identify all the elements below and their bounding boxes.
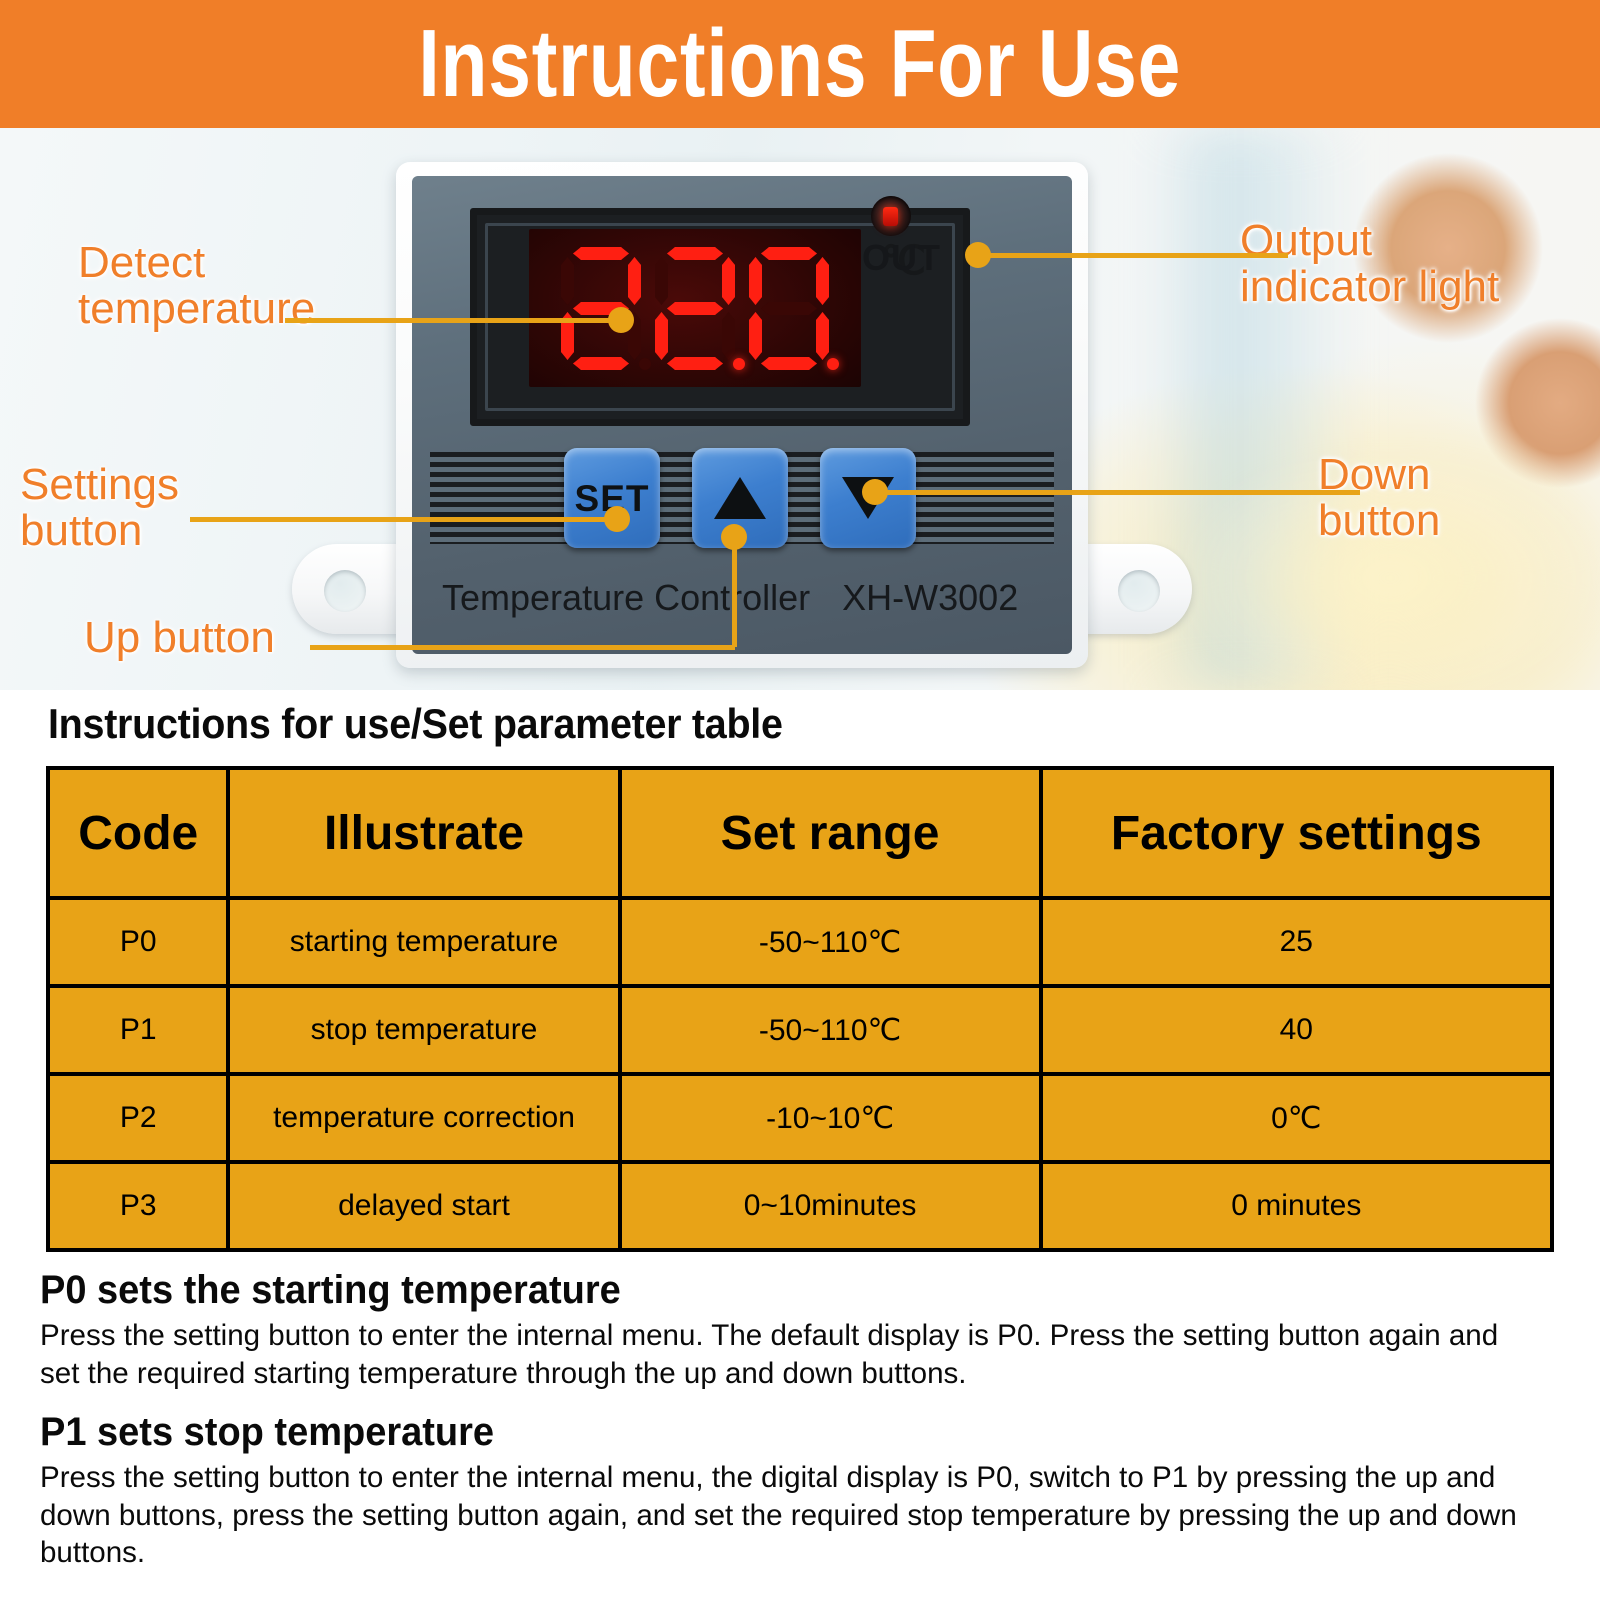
table-row: P1 stop temperature -50~110℃ 40 — [48, 986, 1552, 1074]
triangle-up-icon — [714, 477, 766, 519]
instruction-heading-p1: P1 sets stop temperature — [40, 1410, 1484, 1455]
cell-illustrate: starting temperature — [228, 898, 619, 986]
table-row: P0 starting temperature -50~110℃ 25 — [48, 898, 1552, 986]
device-bezel: ℃ OUT SET Te — [396, 162, 1088, 668]
cell-code: P3 — [48, 1162, 228, 1250]
leader-dot-settings — [604, 506, 630, 532]
cell-factory: 25 — [1041, 898, 1552, 986]
leader-line-up-v — [732, 535, 737, 647]
leader-line-down — [880, 490, 1360, 495]
mounting-tab-right — [1072, 544, 1192, 634]
leader-line-up-h — [310, 645, 735, 650]
instruction-body-p1: Press the setting button to enter the in… — [40, 1459, 1537, 1572]
out-label: OUT — [862, 240, 941, 276]
callout-detect-line2: temperature — [78, 286, 315, 332]
cell-code: P1 — [48, 986, 228, 1074]
cell-factory: 0 minutes — [1041, 1162, 1552, 1250]
leader-dot-down — [862, 479, 888, 505]
page-root: Instructions For Use — [0, 0, 1600, 1600]
set-button[interactable]: SET — [564, 448, 660, 548]
callout-down-button: Down button — [1318, 452, 1440, 544]
leader-dot-output — [965, 242, 991, 268]
instruction-block-p1: P1 sets stop temperature Press the setti… — [40, 1410, 1560, 1572]
led-display — [529, 229, 861, 387]
brand-text: Temperature Controller — [442, 577, 810, 618]
header-banner: Instructions For Use — [0, 0, 1600, 128]
instruction-block-p0: P0 sets the starting temperature Press t… — [40, 1268, 1560, 1392]
cell-code: P2 — [48, 1074, 228, 1162]
led-digit-1 — [559, 246, 643, 370]
cell-illustrate: temperature correction — [228, 1074, 619, 1162]
callout-output-indicator: Output indicator light — [1240, 218, 1499, 310]
cell-range: -50~110℃ — [620, 898, 1041, 986]
section-title: Instructions for use/Set parameter table — [48, 700, 783, 748]
instruction-heading-p0: P0 sets the starting temperature — [40, 1268, 1484, 1313]
mounting-hole-left — [324, 570, 366, 612]
model-text: XH-W3002 — [842, 577, 1018, 618]
leader-line-detect — [285, 318, 620, 323]
table-header-row: Code Illustrate Set range Factory settin… — [48, 768, 1552, 898]
leader-line-settings — [190, 517, 615, 522]
callout-up-line1: Up button — [84, 615, 275, 661]
callout-settings-line1: Settings — [20, 462, 179, 508]
cell-illustrate: delayed start — [228, 1162, 619, 1250]
table-header-illustrate: Illustrate — [228, 768, 619, 898]
parameter-table: Code Illustrate Set range Factory settin… — [46, 766, 1554, 1252]
leader-dot-up — [721, 524, 747, 550]
callout-down-line2: button — [1318, 498, 1440, 544]
temperature-controller-device: ℃ OUT SET Te — [292, 160, 1192, 670]
output-indicator-led — [871, 196, 911, 236]
table-row: P2 temperature correction -10~10℃ 0℃ — [48, 1074, 1552, 1162]
leader-line-output — [988, 253, 1288, 258]
cell-illustrate: stop temperature — [228, 986, 619, 1074]
leader-dot-detect — [608, 307, 634, 333]
callout-settings-line2: button — [20, 508, 179, 554]
led-digit-2 — [653, 246, 737, 370]
instruction-body-p0: Press the setting button to enter the in… — [40, 1317, 1537, 1392]
device-branding: Temperature ControllerXH-W3002 — [442, 580, 1052, 616]
callout-settings-button: Settings button — [20, 462, 179, 554]
mounting-hole-right — [1118, 570, 1160, 612]
cell-range: -10~10℃ — [620, 1074, 1041, 1162]
mounting-tab-left — [292, 544, 412, 634]
page-title: Instructions For Use — [419, 16, 1182, 112]
cell-range: -50~110℃ — [620, 986, 1041, 1074]
callout-detect-line1: Detect — [78, 240, 315, 286]
cell-factory: 0℃ — [1041, 1074, 1552, 1162]
table-row: P3 delayed start 0~10minutes 0 minutes — [48, 1162, 1552, 1250]
callout-up-button: Up button — [84, 615, 275, 661]
table-header-factory-settings: Factory settings — [1041, 768, 1552, 898]
cell-range: 0~10minutes — [620, 1162, 1041, 1250]
callout-detect-temperature: Detect temperature — [78, 240, 315, 332]
table-header-set-range: Set range — [620, 768, 1041, 898]
callout-output-line2: indicator light — [1240, 264, 1499, 310]
cell-code: P0 — [48, 898, 228, 986]
table-header-code: Code — [48, 768, 228, 898]
led-digit-3 — [747, 246, 831, 370]
cell-factory: 40 — [1041, 986, 1552, 1074]
